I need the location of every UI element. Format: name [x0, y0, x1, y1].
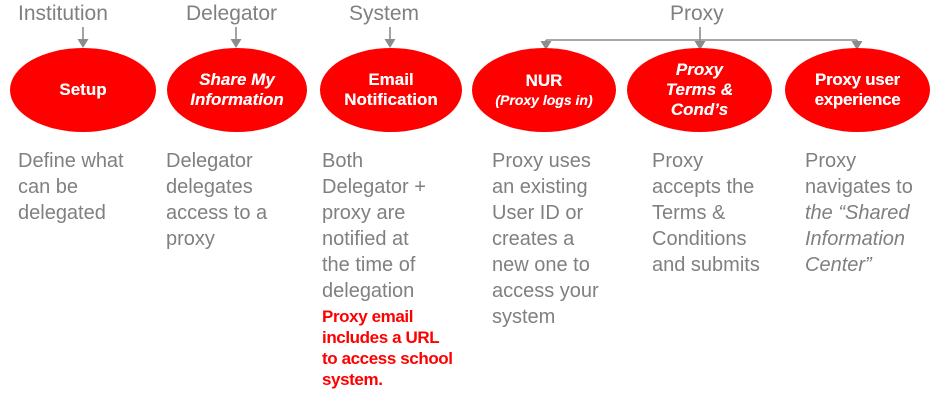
process-node-label: Setup [10, 80, 156, 100]
process-node-line1: Email [368, 70, 413, 89]
arrow-institution-to-setup-head [78, 39, 89, 48]
description-note-line: Proxy email [322, 306, 480, 327]
description-line: and submits [652, 252, 804, 278]
description-line: delegated [18, 200, 168, 226]
description-proxy-uses-existing-or-new-user-id: Proxy usesan existingUser ID orcreates a… [492, 148, 642, 330]
description-proxy-accepts-terms-and-conditions: Proxyaccepts theTerms &Conditionsand sub… [652, 148, 804, 278]
process-node-label: EmailNotification [320, 70, 462, 110]
process-node-line2: Notification [344, 90, 438, 109]
description-line: Both [322, 148, 474, 174]
process-node-line1: Proxy [676, 60, 723, 79]
description-proxy-navigates-to-shared-information-center: Proxynavigates tothe “SharedInformationC… [805, 148, 934, 278]
description-line: accepts the [652, 174, 804, 200]
process-node-setup[interactable]: Setup [10, 48, 156, 132]
process-node-proxy-user-experience[interactable]: Proxy userexperience [785, 48, 930, 132]
description-line: the “Shared [805, 200, 934, 226]
description-line: navigates to [805, 174, 934, 200]
process-node-share-my-information[interactable]: Share MyInformation [167, 48, 307, 132]
process-node-email-notification[interactable]: EmailNotification [320, 48, 462, 132]
description-line: proxy [166, 226, 316, 252]
description-line: access your [492, 278, 642, 304]
description-note-line: system. [322, 369, 480, 390]
process-node-line2: experience [815, 90, 901, 109]
description-line: Define what [18, 148, 168, 174]
process-node-label: Proxy userexperience [785, 70, 930, 110]
process-node-line2: Terms & Cond’s [666, 80, 733, 119]
description-line: can be [18, 174, 168, 200]
description-line: an existing [492, 174, 642, 200]
description-line: Proxy uses [492, 148, 642, 174]
description-line: Proxy [652, 148, 804, 174]
arrow-delegator-to-share-my-information-head [231, 39, 242, 48]
process-node-label: Share MyInformation [167, 70, 307, 110]
description-line: system [492, 304, 642, 330]
description-line: access to a [166, 200, 316, 226]
description-line: Center” [805, 252, 934, 278]
process-node-line1: Proxy user [815, 70, 900, 89]
description-line: delegates [166, 174, 316, 200]
description-delegator-delegates-access: Delegatordelegatesaccess to aproxy [166, 148, 316, 252]
description-line: Conditions [652, 226, 804, 252]
process-node-line2: (Proxy logs in) [480, 91, 608, 109]
description-note-line: to access school [322, 348, 480, 369]
description-line: Delegator + [322, 174, 474, 200]
description-line: the time of [322, 252, 474, 278]
description-line: Delegator [166, 148, 316, 174]
process-node-line1: NUR [526, 71, 563, 90]
process-node-line1: Share My [199, 70, 275, 89]
description-line: proxy are [322, 200, 474, 226]
description-line: Proxy [805, 148, 934, 174]
process-node-label: NUR(Proxy logs in) [472, 71, 616, 109]
diagram-canvas: InstitutionDelegatorSystemProxy SetupSha… [0, 0, 934, 410]
description-line: Terms & [652, 200, 804, 226]
description-line: new one to [492, 252, 642, 278]
phase-label-proxy: Proxy [670, 2, 724, 26]
process-node-label: ProxyTerms & Cond’s [627, 60, 772, 120]
description-line: creates a [492, 226, 642, 252]
process-node-nur[interactable]: NUR(Proxy logs in) [472, 48, 616, 132]
description-line: delegation [322, 278, 474, 304]
arrow-system-to-email-notification-head [385, 39, 396, 48]
description-line: User ID or [492, 200, 642, 226]
description-line: notified at [322, 226, 474, 252]
process-node-line2: Information [190, 90, 284, 109]
description-both-notified-at-time-of-delegation: BothDelegator +proxy arenotified atthe t… [322, 148, 474, 304]
description-line: Information [805, 226, 934, 252]
description-note-line: includes a URL [322, 327, 480, 348]
process-node-proxy-terms-and-conditions[interactable]: ProxyTerms & Cond’s [627, 48, 772, 132]
phase-label-delegator: Delegator [186, 2, 277, 26]
description-note-both-notified-at-time-of-delegation: Proxy emailincludes a URLto access schoo… [322, 306, 480, 390]
description-define-what-can-be-delegated: Define whatcan bedelegated [18, 148, 168, 226]
phase-label-system: System [349, 2, 419, 26]
phase-label-institution: Institution [18, 2, 108, 26]
process-node-line1: Setup [59, 80, 106, 99]
